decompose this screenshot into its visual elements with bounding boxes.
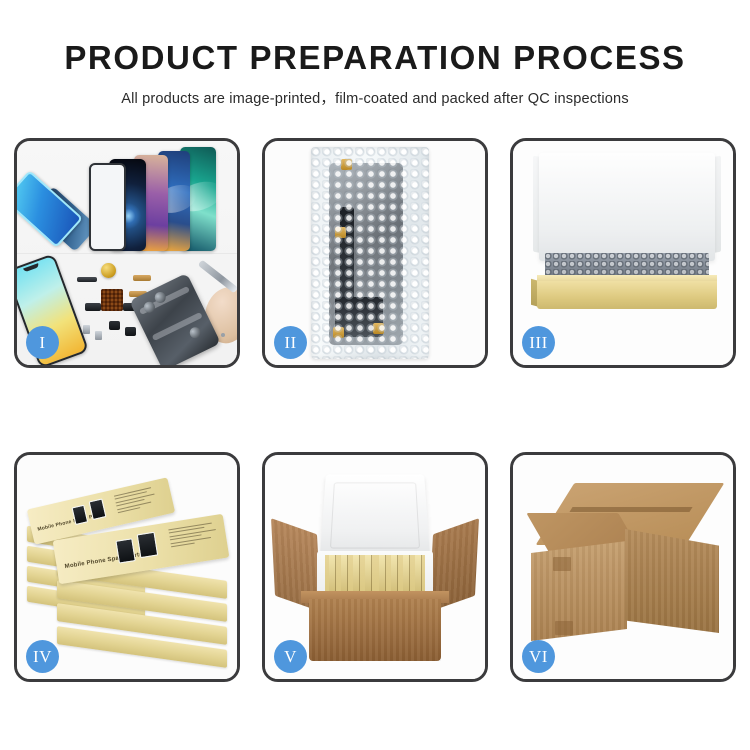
camera-module-icon xyxy=(109,321,120,330)
tape-seal-icon xyxy=(555,621,573,635)
carton-body-icon xyxy=(309,599,441,661)
panel-bubble-wrapped-part[interactable]: II xyxy=(262,138,488,368)
carton-right-face xyxy=(625,529,719,633)
surface-line xyxy=(17,253,237,254)
small-component-icon xyxy=(95,331,102,340)
lid-spec-lines xyxy=(114,486,161,516)
lid-screen-thumb xyxy=(115,538,135,563)
carton-left-face xyxy=(531,541,627,641)
screwdriver-icon xyxy=(198,260,237,294)
page-title: PRODUCT PREPARATION PROCESS xyxy=(0,40,750,76)
step-badge: II xyxy=(274,326,307,359)
back-housing-icon xyxy=(129,273,221,365)
gold-flex-strip-icon xyxy=(133,275,151,281)
dark-flex-part-icon xyxy=(85,303,101,311)
dark-bar-part-icon xyxy=(77,277,97,282)
small-component-icon xyxy=(83,325,90,334)
step-badge: I xyxy=(26,326,59,359)
panel-products-and-parts[interactable]: I xyxy=(14,138,240,368)
screw-icon xyxy=(221,333,225,337)
lid-spec-lines xyxy=(168,522,221,550)
panel-stacked-boxes[interactable]: Mobile Phone Spare Parts Mobile Phone Sp… xyxy=(14,452,240,682)
lid-screen-thumb xyxy=(89,498,107,520)
step-badge: III xyxy=(522,326,555,359)
lid-screen-thumb xyxy=(71,505,88,525)
process-step-grid: I II xyxy=(14,138,736,682)
step-badge: IV xyxy=(26,640,59,673)
yellow-box-base-icon xyxy=(537,281,717,309)
tape-seal-icon xyxy=(553,557,571,571)
gold-coin-part-icon xyxy=(101,263,116,278)
foam-lid-icon xyxy=(320,475,430,559)
step-badge: V xyxy=(274,640,307,673)
panel-sealed-carton[interactable]: VI xyxy=(510,452,736,682)
product-preparation-infographic: PRODUCT PREPARATION PROCESS All products… xyxy=(0,0,750,750)
gold-connector-icon xyxy=(335,227,346,238)
carton-top-seam xyxy=(569,507,692,512)
gold-connector-icon xyxy=(333,327,344,338)
copper-grid-chip-icon xyxy=(101,289,123,311)
box-stack: Mobile Phone Spare Parts Mobile Phone Sp… xyxy=(23,473,237,669)
page-subtitle: All products are image-printed，film-coat… xyxy=(0,87,750,108)
gold-connector-icon xyxy=(373,323,384,334)
camera-module-icon xyxy=(125,327,136,336)
step-badge: VI xyxy=(522,640,555,673)
lid-screen-thumb xyxy=(137,532,159,559)
header: PRODUCT PREPARATION PROCESS All products… xyxy=(0,0,750,108)
bubble-wrap-bag-icon xyxy=(311,147,429,359)
closed-carton-icon xyxy=(527,483,723,651)
panel-open-box-with-wrap[interactable]: III xyxy=(510,138,736,368)
panel-carton-with-foam[interactable]: V xyxy=(262,452,488,682)
front-glass-panel-icon xyxy=(89,163,126,251)
white-box-lid-icon xyxy=(539,153,715,261)
gold-connector-icon xyxy=(341,159,352,170)
